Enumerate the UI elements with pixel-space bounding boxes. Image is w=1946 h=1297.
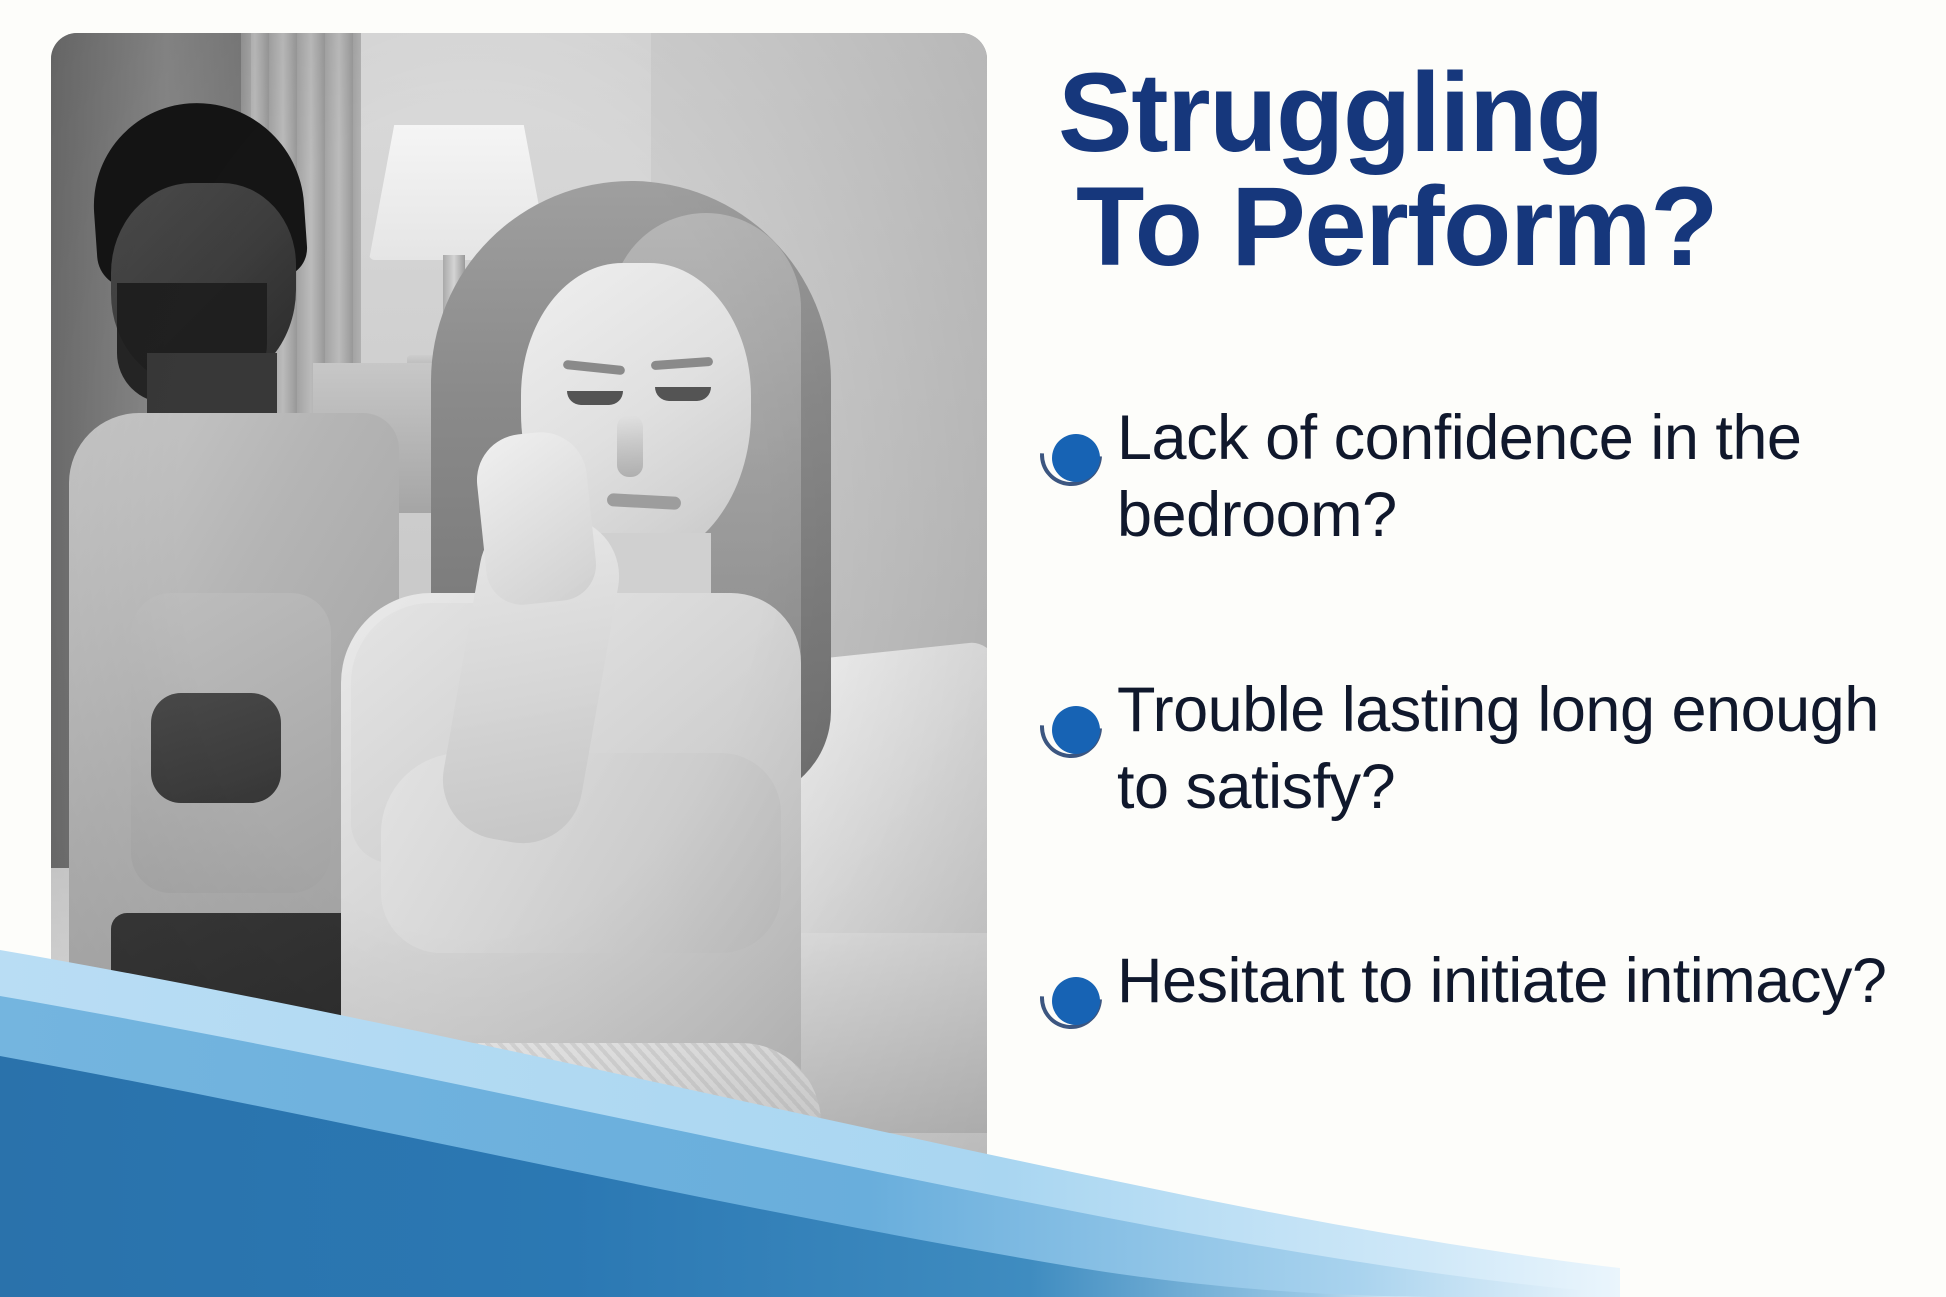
page-title-line-2: To Perform?: [1058, 170, 1928, 284]
slide-canvas: Struggling To Perform? Lack of confidenc…: [0, 0, 1946, 1297]
page-title-line-1: Struggling: [1058, 56, 1928, 170]
list-item[interactable]: Lack of confidence in the bedroom?: [1035, 400, 1946, 554]
bullet-dot: [1052, 434, 1100, 482]
couple-in-bedroom-photo: [51, 33, 987, 1248]
filled-circle-with-arc-icon: [1035, 422, 1111, 498]
content-column: Struggling To Perform? Lack of confidenc…: [1035, 0, 1946, 1297]
filled-circle-with-arc-icon: [1035, 965, 1111, 1041]
photo-vignette: [51, 33, 987, 1248]
list-item[interactable]: Trouble lasting long enough to satisfy?: [1035, 672, 1946, 826]
filled-circle-with-arc-icon: [1035, 694, 1111, 770]
page-title: Struggling To Perform?: [1058, 56, 1928, 284]
list-item[interactable]: Hesitant to initiate intimacy?: [1035, 943, 1946, 1041]
list-item-label: Hesitant to initiate intimacy?: [1117, 943, 1946, 1020]
list-item-label: Lack of confidence in the bedroom?: [1117, 400, 1946, 554]
photo-scene: [51, 33, 987, 1248]
list-item-label: Trouble lasting long enough to satisfy?: [1117, 672, 1946, 826]
bullet-dot: [1052, 706, 1100, 754]
symptom-list: Lack of confidence in the bedroom? Troub…: [1035, 400, 1946, 1041]
